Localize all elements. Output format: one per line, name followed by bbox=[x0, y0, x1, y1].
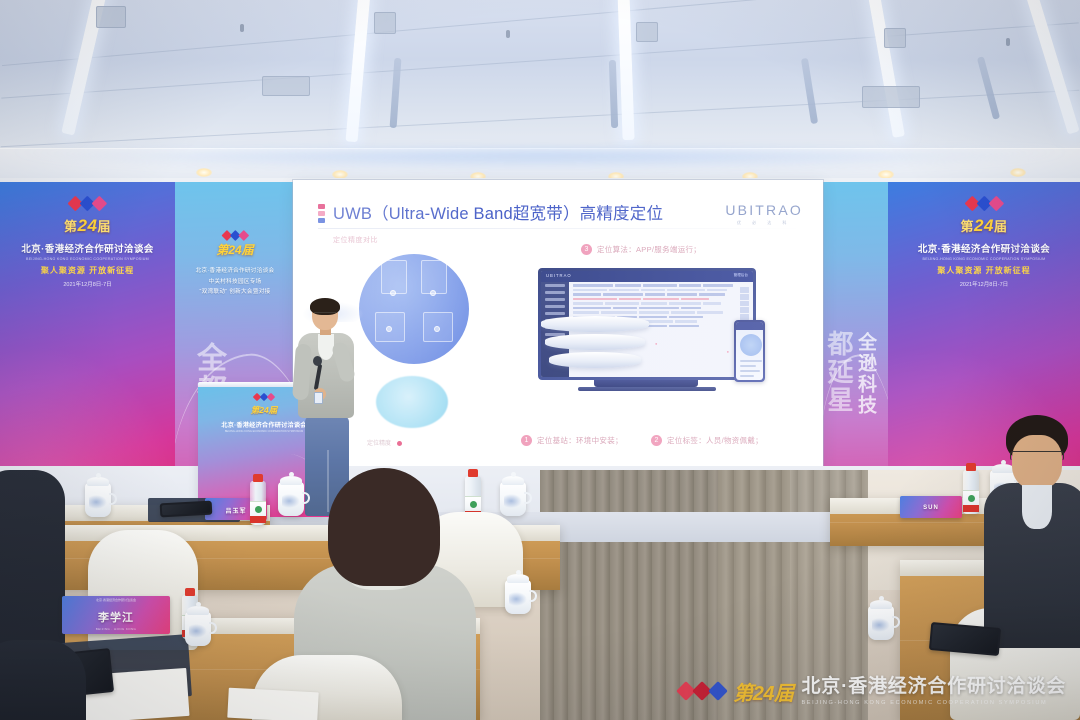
ceiling-vent bbox=[884, 28, 906, 48]
sprinkler-head bbox=[506, 30, 510, 38]
name-card-sub: BEIJING · HONG KONG bbox=[62, 627, 170, 631]
water-bottle bbox=[250, 481, 266, 525]
watermark-subtitle: BEIJING-HONG KONG ECONOMIC COOPERATION S… bbox=[801, 700, 1066, 706]
conference-photo-scene: 第24届 北京·香港经济合作研讨洽谈会 BEIJING-HONG KONG EC… bbox=[0, 0, 1080, 720]
panel-left-line-1: 北京·香港经济合作研讨洽谈会 bbox=[175, 266, 295, 277]
downlight bbox=[1010, 168, 1026, 177]
sprinkler-head bbox=[240, 24, 244, 32]
projection-screen: UWB（Ultra-Wide Band超宽带）高精度定位 UBITRAO 优 必… bbox=[293, 180, 823, 468]
bullet-text-3: 定位算法：APP/服务端运行； bbox=[597, 244, 701, 255]
slide-bullet-1: 1 定位基站：环境中安装； bbox=[521, 435, 623, 446]
downlight bbox=[196, 168, 212, 177]
symposium-diamond-logo-icon bbox=[193, 232, 277, 240]
dashboard-right-label: 管理后台 bbox=[734, 273, 748, 278]
ceiling-vent bbox=[374, 12, 396, 34]
panel-left-edition-badge: 第24届 bbox=[175, 241, 295, 258]
sprinkler-head bbox=[1006, 38, 1010, 46]
positioning-circle-graphic: 定位精度 bbox=[343, 248, 478, 438]
ceiling bbox=[0, 0, 1080, 150]
banner-right-subtitle: BEIJING-HONG KONG ECONOMIC COOPERATION S… bbox=[918, 257, 1050, 261]
bullet-number-3: 3 bbox=[581, 244, 592, 255]
ceiling-vent bbox=[636, 22, 658, 42]
attendee-right bbox=[988, 415, 1080, 645]
slide-bullet-3: 3 定位算法：APP/服务端运行； bbox=[581, 244, 701, 255]
coverage-circle-large bbox=[359, 254, 469, 364]
name-card-right-table: SUN bbox=[900, 496, 962, 518]
ubitrao-sub: 优 必 达 科 bbox=[725, 220, 803, 226]
microphone-head bbox=[313, 356, 322, 366]
watermark-title: 北京·香港经济合作研讨洽谈会 bbox=[801, 677, 1066, 698]
attendee-glasses bbox=[1010, 451, 1064, 461]
ceiling-light-strip-dim bbox=[390, 58, 402, 128]
name-card-foreground: 北京·香港经济合作研讨洽谈会 李学江 BEIJING · HONG KONG bbox=[62, 596, 170, 634]
speaker-lanyard-badge bbox=[314, 392, 323, 404]
slide-accent-bars-icon bbox=[318, 204, 325, 223]
ceiling-light-strip-dim bbox=[609, 60, 618, 128]
banner-left-edition-badge: 第24届 bbox=[21, 216, 153, 236]
banner-right-edition-badge: 第24届 bbox=[918, 216, 1050, 236]
slide-title: UWB（Ultra-Wide Band超宽带）高精度定位 bbox=[333, 200, 663, 224]
banner-left-date: 2021年12月8日-7日 bbox=[21, 280, 153, 288]
ubitrao-wordmark: UBITRAO bbox=[725, 202, 803, 218]
circle-caption: 定位精度 bbox=[367, 438, 402, 447]
server-stack-graphic bbox=[541, 316, 649, 386]
tea-cup bbox=[505, 580, 531, 614]
tea-cup bbox=[185, 612, 211, 646]
paper-notepad bbox=[227, 688, 318, 720]
slide-divider bbox=[318, 228, 803, 229]
slide-caption: 定位精度对比 bbox=[333, 235, 378, 245]
mobile-app-mockup bbox=[734, 320, 765, 382]
slide-bullet-2: 2 定位标签：人员/物资佩戴； bbox=[651, 435, 763, 446]
tablet-device[interactable] bbox=[929, 622, 1001, 656]
panel-left-line-2: 中关村科技园区专场 bbox=[175, 277, 295, 288]
banner-left-slogan: 聚人聚资源 开放新征程 bbox=[21, 265, 153, 276]
symposium-diamond-logo-icon bbox=[918, 198, 1050, 209]
bullet-number-1: 1 bbox=[521, 435, 532, 446]
banner-left-title: 北京·香港经济合作研讨洽谈会 bbox=[21, 241, 153, 255]
tea-cup bbox=[868, 606, 894, 640]
symposium-diamond-logo-icon bbox=[21, 198, 153, 209]
panel-right-watermark-a: 都延星 bbox=[826, 330, 852, 414]
symposium-diamond-logo-icon bbox=[679, 684, 725, 698]
ceiling-light-strip-dim bbox=[801, 58, 818, 124]
banner-right-title: 北京·香港经济合作研讨洽谈会 bbox=[918, 241, 1050, 255]
banner-right-slogan: 聚人聚资源 开放新征程 bbox=[918, 265, 1050, 276]
coverage-circle-small bbox=[376, 376, 448, 428]
panel-right-watermark-b: 全逊科技 bbox=[856, 332, 875, 416]
bullet-number-2: 2 bbox=[651, 435, 662, 446]
panel-left-head: 第24届 北京·香港经济合作研讨洽谈会 中关村科技园区专场 “双湾联动” 创新大… bbox=[175, 230, 295, 298]
ceiling-light-strip bbox=[867, 0, 905, 138]
presentation-slide: UWB（Ultra-Wide Band超宽带）高精度定位 UBITRAO 优 必… bbox=[293, 180, 823, 468]
ceiling-vent bbox=[96, 6, 126, 28]
dashboard-topbar: UBITRAO 管理后台 bbox=[541, 271, 753, 282]
watermark-edition-badge: 第24届 bbox=[733, 677, 793, 706]
tea-cup bbox=[85, 483, 111, 517]
water-bottle bbox=[963, 470, 979, 514]
banner-left-subtitle: BEIJING-HONG KONG ECONOMIC COOPERATION S… bbox=[21, 257, 153, 261]
banner-left-logo-block: 第24届 北京·香港经济合作研讨洽谈会 BEIJING-HONG KONG EC… bbox=[21, 198, 153, 288]
ceiling-vent bbox=[262, 76, 310, 96]
ubitrao-logo: UBITRAO 优 必 达 科 bbox=[725, 202, 803, 226]
ceiling-vent bbox=[862, 86, 920, 108]
name-card-name: 李学江 bbox=[98, 609, 134, 625]
dashboard-brand: UBITRAO bbox=[546, 273, 572, 278]
tablet-device[interactable] bbox=[160, 501, 213, 518]
event-watermark-logo: 第24届 北京·香港经济合作研讨洽谈会 BEIJING-HONG KONG EC… bbox=[679, 677, 1066, 706]
ceiling-light-strip bbox=[617, 0, 634, 140]
ceiling-light-strip bbox=[1024, 0, 1079, 134]
speaker-glasses bbox=[314, 312, 336, 318]
bullet-text-1: 定位基站：环境中安装； bbox=[537, 435, 623, 446]
bullet-text-2: 定位标签：人员/物资佩戴； bbox=[667, 435, 763, 446]
phone-screen bbox=[736, 322, 763, 380]
name-card-header: 北京·香港经济合作研讨洽谈会 bbox=[62, 598, 170, 602]
panel-left-line-3: “双湾联动” 创新大会暨对接 bbox=[175, 287, 295, 298]
banner-right-date: 2021年12月8日-7日 bbox=[918, 280, 1050, 288]
soffit-cove-glow bbox=[0, 150, 1080, 172]
monitor-foot bbox=[578, 387, 716, 391]
banner-right-logo-block: 第24届 北京·香港经济合作研讨洽谈会 BEIJING-HONG KONG EC… bbox=[918, 198, 1050, 288]
tea-cup bbox=[500, 482, 526, 516]
attendee-left-foreground bbox=[0, 640, 86, 720]
ceiling-light-strip-dim bbox=[977, 56, 1000, 120]
